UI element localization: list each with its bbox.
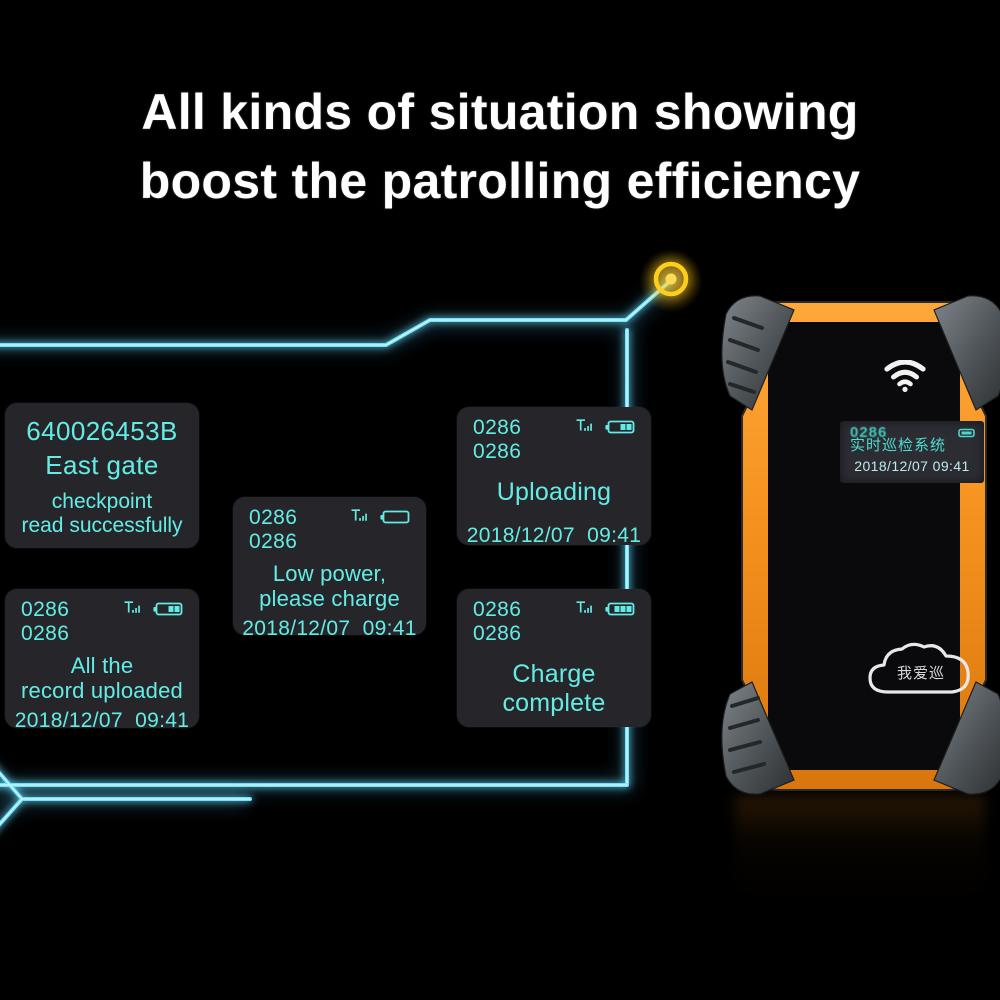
battery-full-icon [605, 602, 635, 617]
panel-message-line-1: Low power, [243, 561, 416, 586]
panel-message-line-1: Uploading [467, 478, 641, 507]
panel-device-id-line-1: 0286 [249, 506, 297, 530]
message-panel-low-power[interactable]: 0286 0286 Low power, please charge 201 [233, 497, 426, 635]
panel-timestamp: 2018/12/07 09:41 [457, 524, 651, 545]
signal-bars-icon [351, 509, 371, 525]
device-face [768, 322, 960, 770]
battery-empty-icon [380, 510, 410, 525]
panel-message-line-1: checkpoint [5, 490, 199, 515]
panel-device-id-line-1: 0286 [473, 416, 521, 440]
signal-bars-icon [576, 601, 596, 617]
panel-location: East gate [5, 449, 199, 483]
panel-message-line-2: please charge [243, 586, 416, 611]
signal-bars-icon [576, 419, 596, 435]
headline-line-2: boost the patrolling efficiency [0, 147, 1000, 216]
message-panel-charge-complete[interactable]: 0286 0286 Charge com [457, 589, 651, 727]
panel-tag-id: 640026453B [5, 415, 199, 449]
panel-timestamp: 2018/12/07 09:41 [5, 709, 199, 728]
panel-device-id-line-2: 0286 [21, 622, 69, 646]
panel-message-line-2: record uploaded [15, 678, 189, 703]
panel-message-line-1: Charge complete [467, 660, 641, 718]
signal-bars-icon [124, 601, 144, 617]
panel-message-line-1: All the [15, 653, 189, 678]
cloud-logo-text: 我爱巡 [862, 636, 980, 702]
panel-device-id-line-2: 0286 [249, 530, 297, 554]
wifi-icon [884, 360, 926, 392]
panel-device-id-line-1: 0286 [21, 598, 69, 622]
cloud-logo: 我爱巡 [862, 636, 980, 702]
message-panel-record-uploaded[interactable]: 0286 0286 All the record [5, 589, 199, 728]
battery-half-icon [153, 602, 183, 617]
device-reflection [735, 795, 985, 915]
page-title: All kinds of situation showing boost the… [0, 78, 1000, 216]
panel-message-line-2: read successfully [5, 514, 199, 539]
message-panel-checkpoint-read[interactable]: 640026453B East gate checkpoint read suc… [5, 403, 199, 548]
node-halo [640, 250, 702, 312]
message-panel-uploading[interactable]: 0286 0286 Uploading 20 [457, 407, 651, 545]
panel-device-id-line-1: 0286 [473, 598, 521, 622]
headline-line-1: All kinds of situation showing [0, 78, 1000, 147]
promo-stage: All kinds of situation showing boost the… [0, 0, 1000, 1000]
device-screen-title: 实时巡检系统 [840, 434, 984, 455]
device-screen-timestamp: 2018/12/07 09:41 [840, 458, 984, 474]
panel-timestamp: 2018/12/07 09:41 [233, 617, 426, 635]
battery-half-icon [605, 420, 635, 435]
device-screen[interactable]: 0286 实时巡检系统 2018/12/07 09:41 [840, 421, 984, 483]
panel-device-id-line-2: 0286 [473, 440, 521, 464]
handheld-device[interactable] [718, 288, 1000, 808]
panel-device-id-line-2: 0286 [473, 622, 521, 646]
